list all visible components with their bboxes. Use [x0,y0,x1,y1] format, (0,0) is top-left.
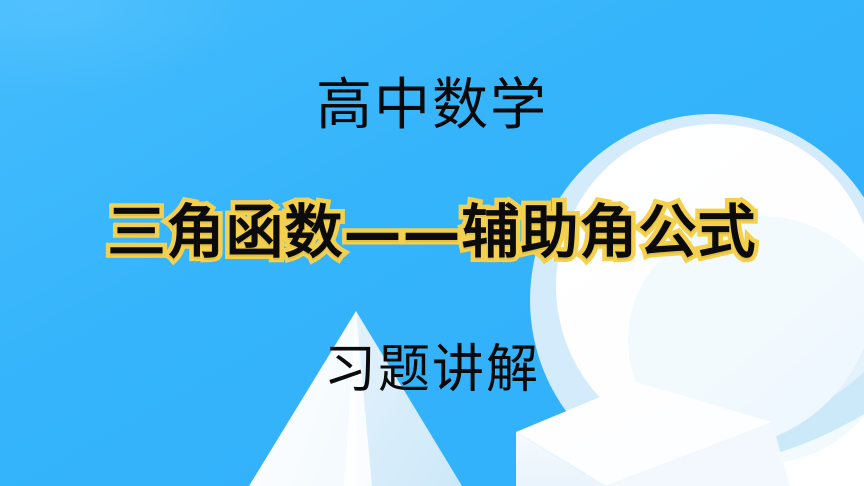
subtitle-text: 习题讲解 [0,344,864,396]
title-slide: 高中数学 三角函数——辅助角公式 习题讲解 [0,0,864,486]
slide-text-layer: 高中数学 三角函数——辅助角公式 习题讲解 [0,0,864,486]
headline-title: 三角函数——辅助角公式 [0,203,864,261]
subject-title: 高中数学 [0,78,864,134]
